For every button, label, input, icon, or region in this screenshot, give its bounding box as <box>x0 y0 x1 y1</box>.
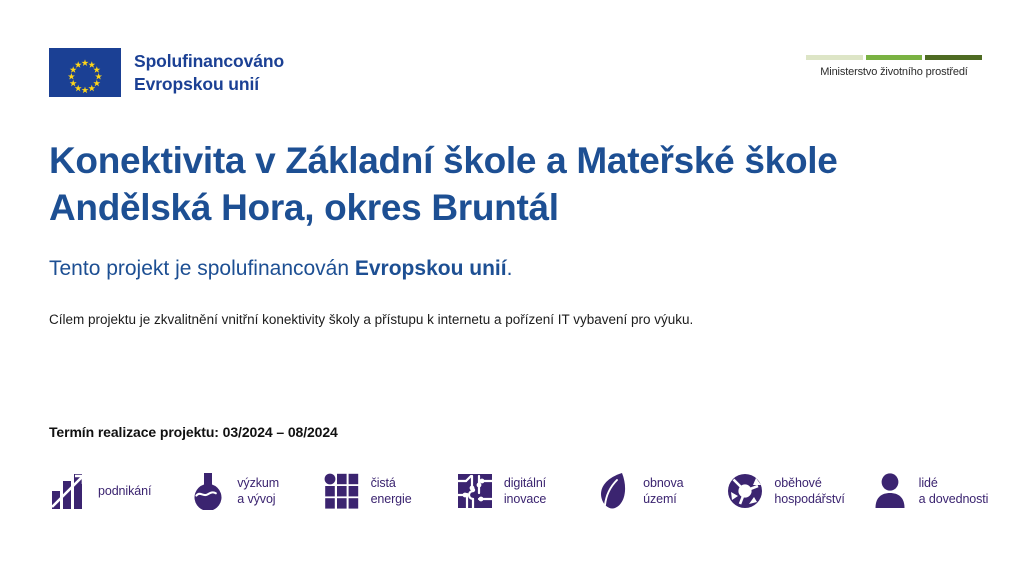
pillar-label: digitální inovace <box>504 475 546 508</box>
subtitle-emphasis: Evropskou unií <box>355 257 507 280</box>
pillar-item: čistá energie <box>322 470 455 512</box>
subtitle-prefix: Tento projekt je spolufinancován <box>49 257 355 280</box>
pillar-item: oběhové hospodářství <box>725 470 869 512</box>
pillar-label: čistá energie <box>371 475 412 508</box>
pillar-label: lidé a dovednosti <box>919 475 989 508</box>
header-bar: Spolufinancováno Evropskou unií Minister… <box>0 0 1024 120</box>
pillar-label: podnikání <box>98 483 151 500</box>
pillar-item: podnikání <box>49 470 188 512</box>
solar-panel-icon <box>322 470 362 512</box>
pillar-label: obnova území <box>643 475 683 508</box>
pillars-row: podnikání výzkum a vývoj <box>49 470 989 512</box>
main-content: Konektivita v Základní škole a Mateřské … <box>49 138 949 329</box>
leaf-icon <box>594 470 634 512</box>
pillar-item: digitální inovace <box>455 470 594 512</box>
page-title: Konektivita v Základní škole a Mateřské … <box>49 138 949 231</box>
project-description: Cílem projektu je zkvalitnění vnitřní ko… <box>49 310 949 330</box>
circular-arrows-icon <box>725 470 765 512</box>
flask-icon <box>188 470 228 512</box>
ministry-name: Ministerstvo životního prostředí <box>806 66 982 78</box>
pillar-item: obnova území <box>594 470 725 512</box>
pillar-item: lidé a dovednosti <box>870 470 989 512</box>
ministry-bar-dark <box>925 55 982 60</box>
circuit-board-icon <box>455 470 495 512</box>
pillar-item: výzkum a vývoj <box>188 470 321 512</box>
project-deadline: Termín realizace projektu: 03/2024 – 08/… <box>49 424 338 440</box>
ministry-bar-medium <box>866 55 923 60</box>
eu-emblem: Spolufinancováno Evropskou unií <box>49 48 284 97</box>
poster-canvas: Spolufinancováno Evropskou unií Minister… <box>0 0 1024 576</box>
pillar-label: výzkum a vývoj <box>237 475 279 508</box>
ministry-logo: Ministerstvo životního prostředí <box>806 55 982 78</box>
subtitle: Tento projekt je spolufinancován Evropsk… <box>49 255 949 283</box>
person-icon <box>870 470 910 512</box>
pillar-label: oběhové hospodářství <box>774 475 844 508</box>
subtitle-suffix: . <box>507 257 513 280</box>
ministry-bar-light <box>806 55 863 60</box>
ministry-color-bars <box>806 55 982 60</box>
eu-emblem-text: Spolufinancováno Evropskou unií <box>134 50 284 95</box>
bar-chart-growth-icon <box>49 470 89 512</box>
eu-flag-icon <box>49 48 121 97</box>
